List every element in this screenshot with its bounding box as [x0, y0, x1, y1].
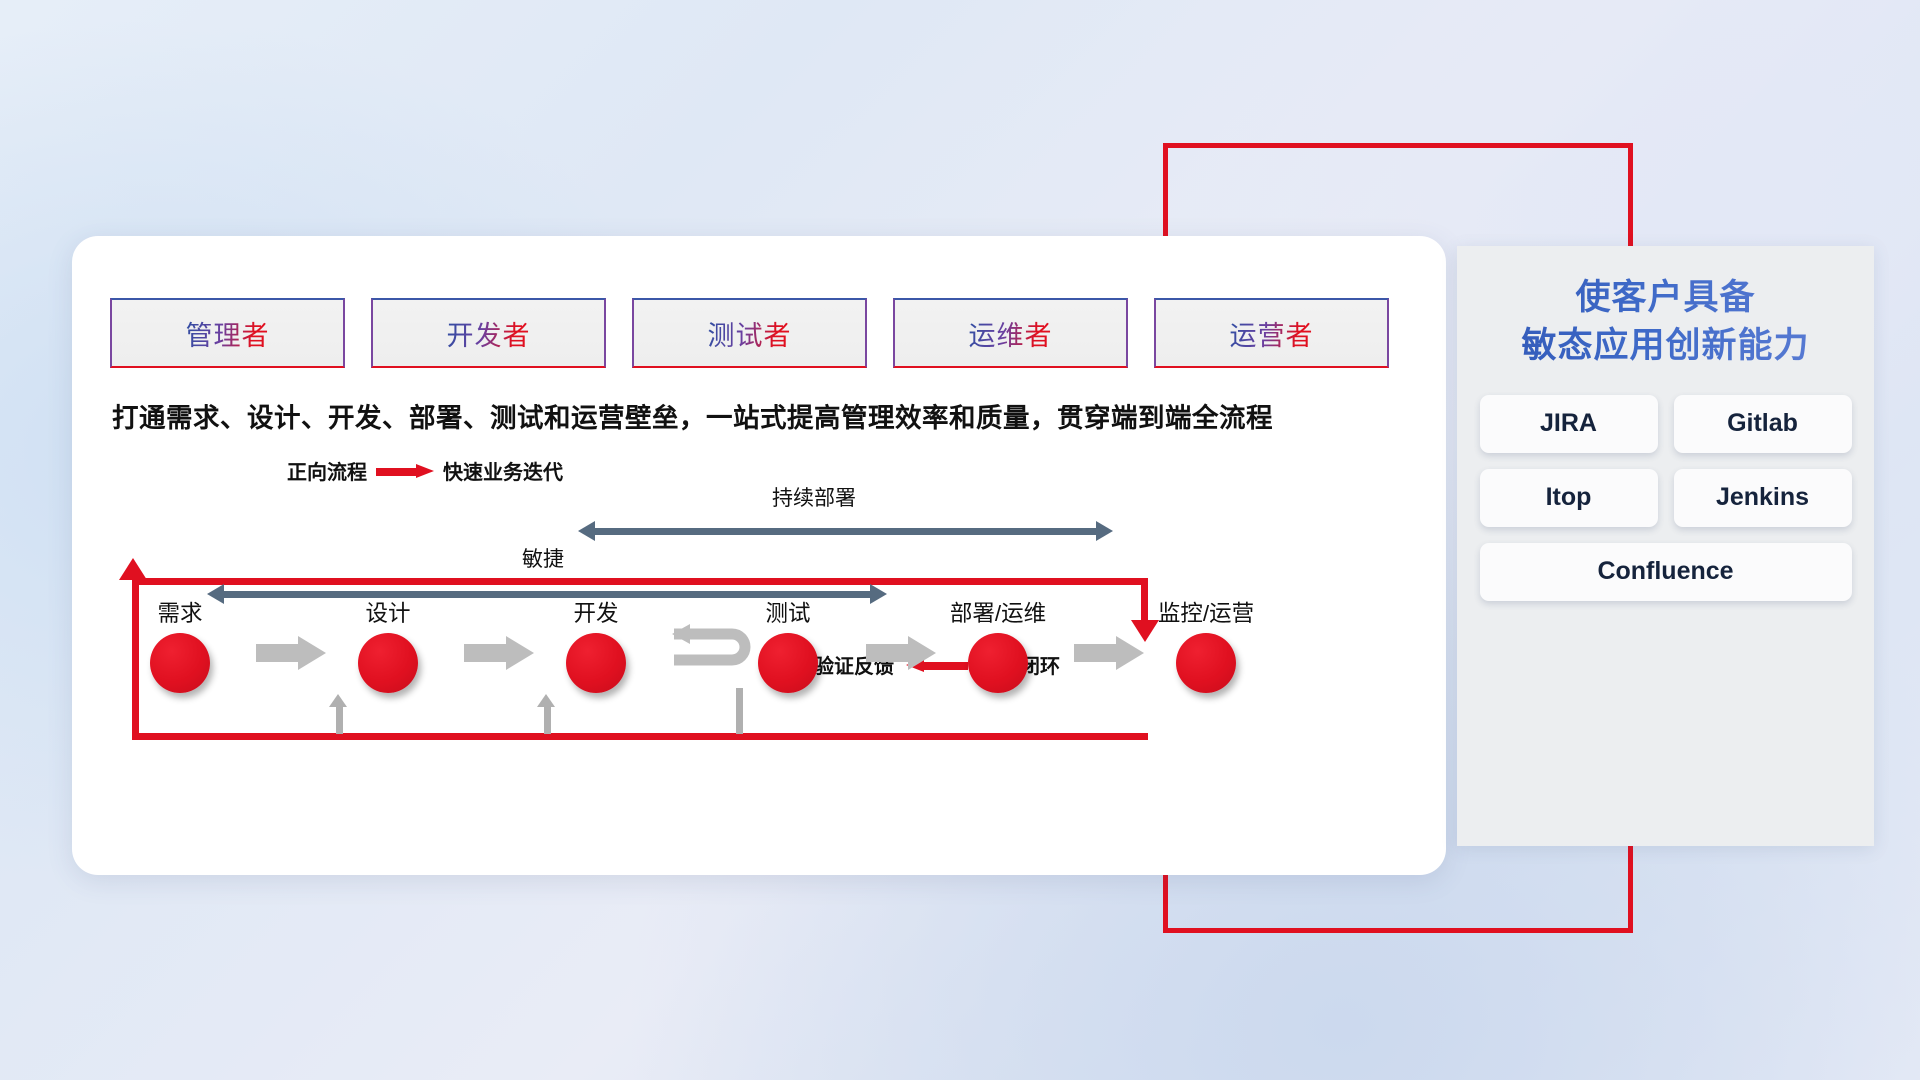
role-box-row: 管理者 开发者 测试者 运维者 运营者	[110, 298, 1389, 368]
arrow-right-red-icon	[376, 464, 434, 477]
stage-label: 需求	[110, 596, 250, 628]
stage-label: 监控/运营	[1136, 596, 1276, 628]
pipeline-stage-design[interactable]: 设计	[318, 596, 458, 693]
role-box-tester[interactable]: 测试者	[632, 298, 867, 368]
stage-label: 部署/运维	[928, 596, 1068, 628]
tool-item-confluence[interactable]: Confluence	[1480, 543, 1852, 601]
role-label: 测试者	[708, 314, 792, 353]
tool-item-gitlab[interactable]: Gitlab	[1674, 395, 1852, 453]
role-label: 运维者	[969, 314, 1053, 353]
role-box-developer[interactable]: 开发者	[371, 298, 606, 368]
role-box-ops[interactable]: 运维者	[893, 298, 1128, 368]
role-box-manager[interactable]: 管理者	[110, 298, 345, 368]
pipeline-stage-requirement[interactable]: 需求	[110, 596, 250, 693]
pipeline-stage-development[interactable]: 开发	[526, 596, 666, 693]
feedback-loop-bottom	[132, 733, 1148, 740]
legend-forward-flow: 正向流程 快速业务迭代	[287, 456, 563, 485]
double-arrow-continuous-deployment-icon	[578, 521, 1113, 541]
slide-canvas: 管理者 开发者 测试者 运维者 运营者 打通需求、设计、开发、部署、测试和运营壁…	[0, 0, 1920, 1080]
label-agile: 敏捷	[522, 543, 564, 573]
stage-dot	[358, 633, 418, 693]
pipeline-stage-monitor-operate[interactable]: 监控/运营	[1136, 596, 1276, 693]
stage-dot	[968, 633, 1028, 693]
role-label: 开发者	[447, 314, 531, 353]
role-box-operator[interactable]: 运营者	[1154, 298, 1389, 368]
label-continuous-deployment: 持续部署	[772, 482, 856, 512]
chevron-arrow-4-icon	[1074, 634, 1144, 672]
value-panel: 使客户具备 敏态应用创新能力 JIRA Gitlab Itop Jenkins …	[1457, 246, 1874, 846]
chevron-arrow-1-icon	[256, 634, 326, 672]
feedback-loop-arrowhead-up-icon	[119, 558, 147, 580]
tool-list: JIRA Gitlab Itop Jenkins Confluence	[1457, 371, 1874, 601]
stage-label: 设计	[318, 596, 458, 628]
stage-dot	[566, 633, 626, 693]
pipeline-stage-deploy-ops[interactable]: 部署/运维	[928, 596, 1068, 693]
role-label: 管理者	[186, 314, 270, 353]
chevron-arrow-2-icon	[464, 634, 534, 672]
stage-dot	[150, 633, 210, 693]
main-card: 管理者 开发者 测试者 运维者 运营者 打通需求、设计、开发、部署、测试和运营壁…	[72, 236, 1446, 875]
legend-forward-to: 快速业务迭代	[443, 456, 563, 485]
iteration-loop-icon	[670, 622, 766, 678]
tool-item-itop[interactable]: Itop	[1480, 469, 1658, 527]
stage-label: 开发	[526, 596, 666, 628]
pipeline-row: 需求 设计 开发	[110, 596, 1410, 726]
chevron-arrow-3-icon	[866, 634, 936, 672]
stage-dot	[758, 633, 818, 693]
connector-top-segment	[1163, 143, 1633, 148]
panel-title-line-1: 使客户具备	[1457, 274, 1874, 322]
connector-bottom-segment	[1163, 928, 1633, 933]
panel-title-line-2: 敏态应用创新能力	[1457, 322, 1874, 370]
stage-dot	[1176, 633, 1236, 693]
role-label: 运营者	[1230, 314, 1314, 353]
tool-item-jira[interactable]: JIRA	[1480, 395, 1658, 453]
panel-title: 使客户具备 敏态应用创新能力	[1457, 246, 1874, 371]
legend-forward-from: 正向流程	[287, 456, 367, 485]
tool-item-jenkins[interactable]: Jenkins	[1674, 469, 1852, 527]
description-text: 打通需求、设计、开发、部署、测试和运营壁垒，一站式提高管理效率和质量，贯穿端到端…	[112, 396, 1412, 435]
